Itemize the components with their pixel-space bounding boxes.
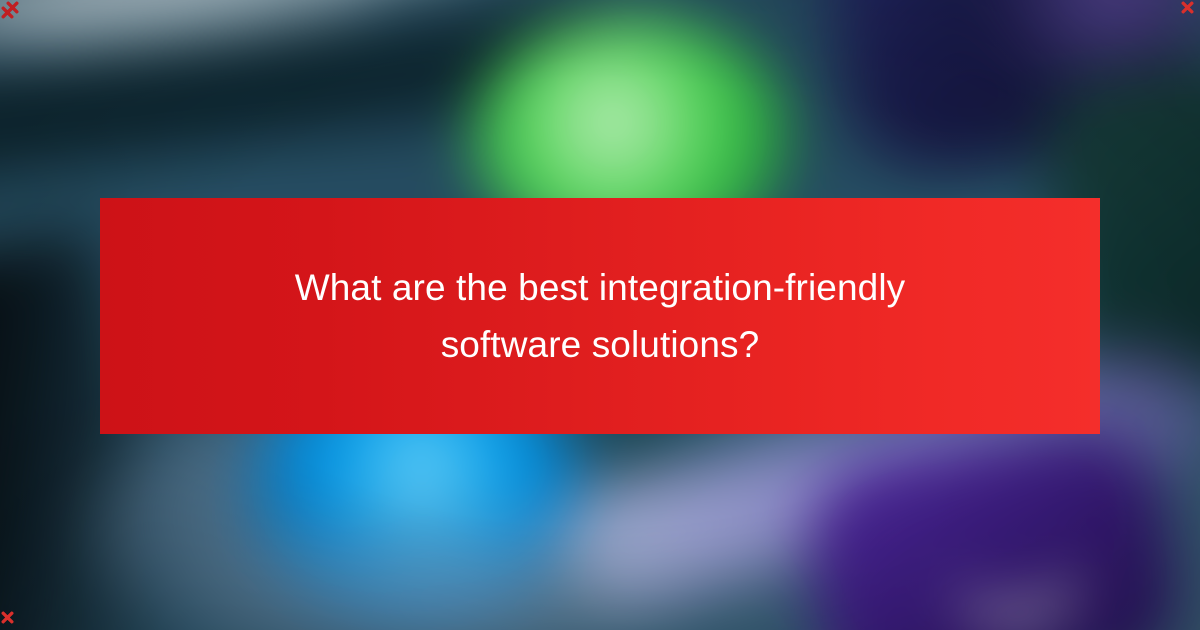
- social-card: What are the best integration-friendly s…: [0, 0, 1200, 630]
- question-banner: What are the best integration-friendly s…: [100, 198, 1100, 434]
- question-text: What are the best integration-friendly s…: [250, 259, 950, 374]
